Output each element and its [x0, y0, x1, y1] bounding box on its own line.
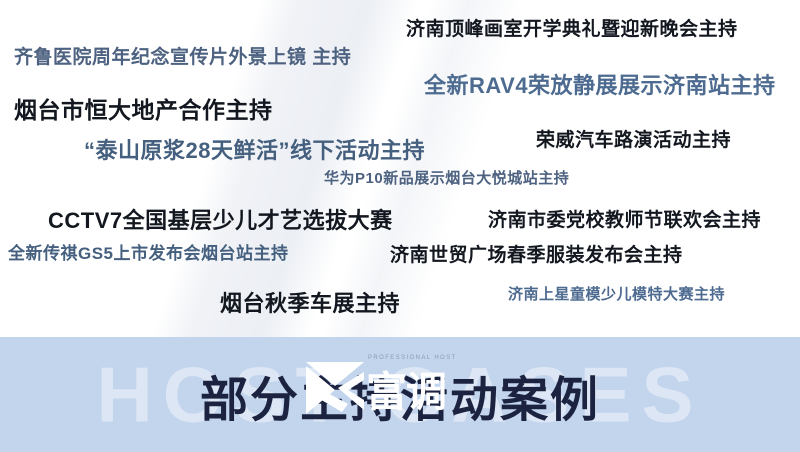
- tagline-item: 济南上星童模少儿模特大赛主持: [508, 283, 725, 304]
- tagline-item: 全新RAV4荣放静展展示济南站主持: [424, 68, 776, 100]
- tagline-item: 齐鲁医院周年纪念宣传片外景上镜 主持: [14, 42, 351, 69]
- tagline-item: 华为P10新品展示烟台大悦城站主持: [324, 167, 569, 188]
- tagline-item: 全新传祺GS5上市发布会烟台站主持: [8, 239, 289, 264]
- tagline-item: 荣威汽车路演活动主持: [536, 125, 731, 152]
- tagline-item: “泰山原浆28天鲜活”线下活动主持: [84, 133, 425, 165]
- tagline-item: 烟台秋季车展主持: [220, 286, 400, 318]
- tagline-item: 济南世贸广场春季服装发布会主持: [390, 240, 683, 267]
- page-title: 部分主持活动案例: [0, 360, 800, 430]
- tagline-item: 济南市委党校教师节联欢会主持: [488, 205, 761, 232]
- section-title-banner: HOST CASES 部分主持活动案例: [0, 337, 800, 452]
- poster-root: 齐鲁医院周年纪念宣传片外景上镜 主持 济南顶峰画室开学典礼暨迎新晚会主持 全新R…: [0, 0, 800, 452]
- tagline-collage: 齐鲁医院周年纪念宣传片外景上镜 主持 济南顶峰画室开学典礼暨迎新晚会主持 全新R…: [0, 0, 800, 337]
- tagline-item: 济南顶峰画室开学典礼暨迎新晚会主持: [406, 14, 738, 41]
- tagline-item: CCTV7全国基层少儿才艺选拔大赛: [48, 203, 393, 235]
- tagline-item: 烟台市恒大地产合作主持: [14, 91, 273, 125]
